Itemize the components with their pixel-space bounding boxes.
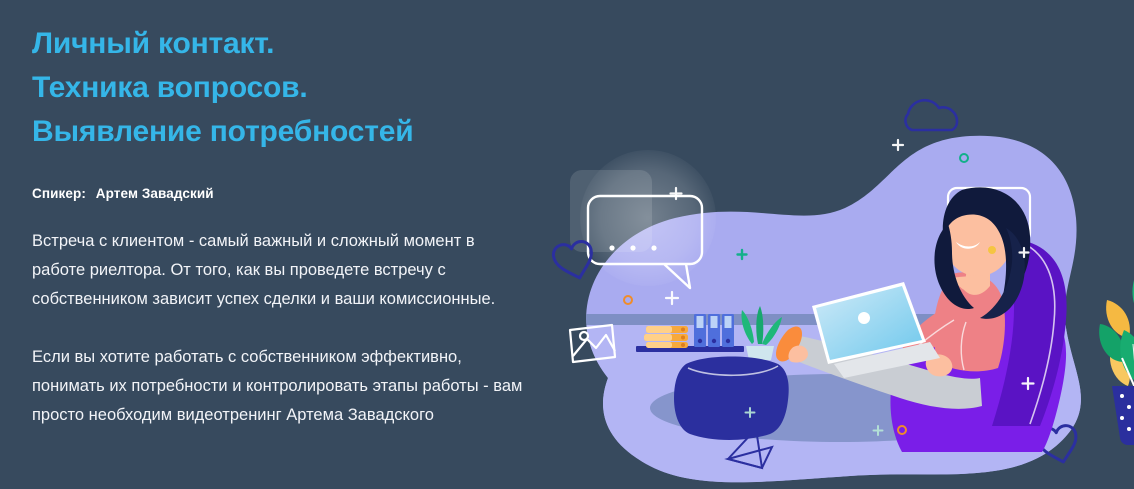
books [644,326,688,348]
headline-line-3: Выявление потребностей [32,110,542,154]
promo-banner: Личный контакт. Техника вопросов. Выявле… [0,0,1134,489]
speaker-line: Спикер: Артем Завадский [32,186,542,201]
bubble-glow-circle [580,150,716,286]
description-paragraph-2: Если вы хотите работать с собственником … [32,343,532,430]
speaker-label: Спикер: [32,186,86,201]
binders [694,314,734,347]
earring [988,246,996,254]
floor-plant [1099,274,1134,445]
illustration [500,78,1134,489]
ottoman [674,357,789,441]
speaker-name: Артем Завадский [96,186,214,201]
headline-line-1: Личный контакт. [32,22,542,66]
text-content: Личный контакт. Техника вопросов. Выявле… [32,22,542,430]
headline-line-2: Техника вопросов. [32,66,542,110]
page-title: Личный контакт. Техника вопросов. Выявле… [32,22,542,154]
heart-outline-left [552,240,596,282]
description-paragraph-1: Встреча с клиентом - самый важный и слож… [32,227,532,314]
cloud-icon [905,100,957,130]
